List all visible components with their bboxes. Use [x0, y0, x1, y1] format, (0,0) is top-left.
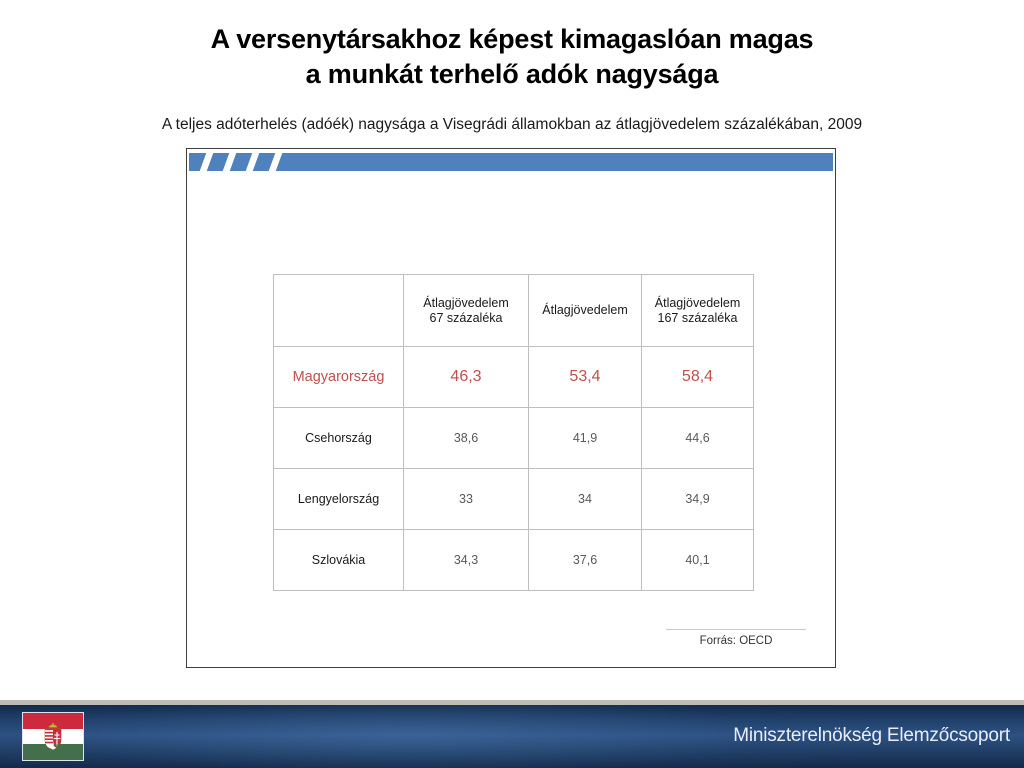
page-title: A versenytársakhoz képest kimagaslóan ma… — [0, 22, 1024, 92]
row-value: 34,9 — [642, 469, 754, 530]
table-row: Lengyelország 33 34 34,9 — [274, 469, 754, 530]
banner-slash-icon — [267, 153, 283, 171]
table-header-col-2: Átlagjövedelem — [529, 275, 642, 347]
footer-organization-label: Miniszterelnökség Elemzőcsoport — [733, 725, 1010, 747]
header-line-2: 167 százaléka — [646, 311, 749, 326]
page-subtitle: A teljes adóterhelés (adóék) nagysága a … — [0, 115, 1024, 135]
row-value: 41,9 — [529, 408, 642, 469]
row-value: 37,6 — [529, 530, 642, 591]
table-row: Szlovákia 34,3 37,6 40,1 — [274, 530, 754, 591]
table-header: Átlagjövedelem 67 százaléka Átlagjövedel… — [274, 275, 754, 347]
table-body: Magyarország 46,3 53,4 58,4 Csehország 3… — [274, 347, 754, 591]
title-line-1: A versenytársakhoz képest kimagaslóan ma… — [0, 22, 1024, 57]
banner-slash-icon — [221, 153, 237, 171]
row-label: Lengyelország — [274, 469, 404, 530]
row-value: 44,6 — [642, 408, 754, 469]
row-value: 46,3 — [404, 347, 529, 408]
row-value: 40,1 — [642, 530, 754, 591]
table-header-blank — [274, 275, 404, 347]
footer-bar: Miniszterelnökség Elemzőcsoport — [0, 705, 1024, 768]
row-value: 33 — [404, 469, 529, 530]
row-value: 53,4 — [529, 347, 642, 408]
banner-slash-icon — [244, 153, 260, 171]
hungary-flag-icon — [22, 712, 84, 761]
source-note: Forrás: OECD — [661, 629, 811, 647]
tax-burden-table: Átlagjövedelem 67 százaléka Átlagjövedel… — [273, 274, 754, 591]
header-line-1: Átlagjövedelem — [533, 303, 637, 318]
header-line-1: Átlagjövedelem — [408, 296, 524, 311]
row-label: Szlovákia — [274, 530, 404, 591]
table-header-col-1: Átlagjövedelem 67 százaléka — [404, 275, 529, 347]
slide-canvas: A versenytársakhoz képest kimagaslóan ma… — [0, 0, 1024, 768]
table-header-col-3: Átlagjövedelem 167 százaléka — [642, 275, 754, 347]
header-line-2: 67 százaléka — [408, 311, 524, 326]
table-row: Magyarország 46,3 53,4 58,4 — [274, 347, 754, 408]
coat-of-arms-icon — [42, 723, 64, 751]
row-label: Csehország — [274, 408, 404, 469]
content-frame: Átlagjövedelem 67 százaléka Átlagjövedel… — [186, 148, 836, 668]
table-row: Csehország 38,6 41,9 44,6 — [274, 408, 754, 469]
row-value: 58,4 — [642, 347, 754, 408]
row-value: 34,3 — [404, 530, 529, 591]
header-line-1: Átlagjövedelem — [646, 296, 749, 311]
source-label: Forrás: OECD — [661, 635, 811, 647]
source-divider — [666, 629, 806, 630]
banner-slash-icon — [198, 153, 214, 171]
row-value: 38,6 — [404, 408, 529, 469]
title-line-2: a munkát terhelő adók nagysága — [0, 57, 1024, 92]
row-label: Magyarország — [274, 347, 404, 408]
decorative-banner — [189, 153, 833, 171]
row-value: 34 — [529, 469, 642, 530]
table-header-row: Átlagjövedelem 67 százaléka Átlagjövedel… — [274, 275, 754, 347]
